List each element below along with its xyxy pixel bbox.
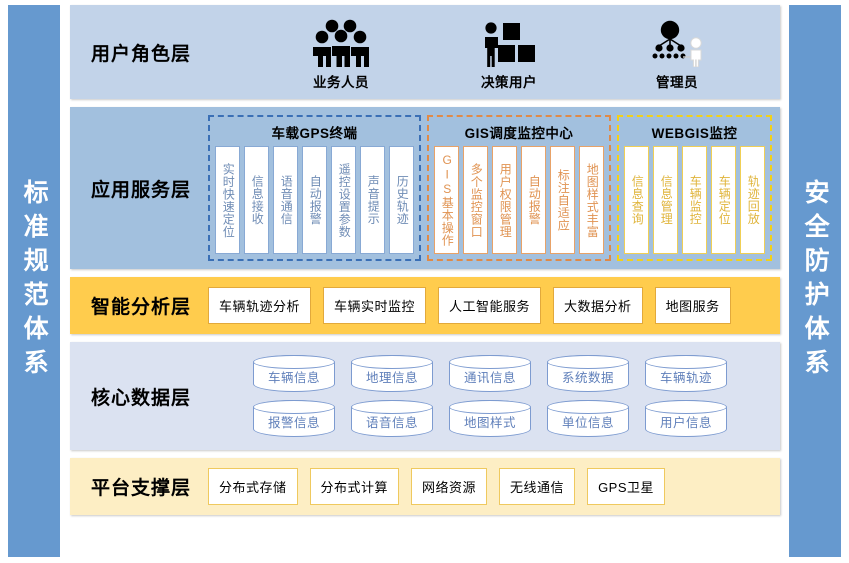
group-items: 实时快速定位 信息接收 语音通信 自动报警 遥控设置参数 声音提示 历史轨迹 — [215, 146, 414, 254]
left-pillar-standards: 标准规范体系 — [8, 5, 60, 557]
layer-platform-support-title: 平台支撑层 — [70, 473, 208, 500]
role-business-staff[interactable]: 业务人员 — [266, 5, 416, 99]
database-cylinder[interactable]: 语音信息 — [351, 400, 433, 437]
right-pillar-security: 安全防护体系 — [789, 5, 841, 557]
layer-platform-support: 平台支撑层 分布式存储 分布式计算 网络资源 无线通信 GPS卫星 — [70, 458, 780, 515]
database-cylinder[interactable]: 车辆信息 — [253, 355, 335, 392]
user-role-list: 业务人员 决策用户 — [208, 5, 780, 99]
analysis-item[interactable]: 地图服务 — [655, 287, 731, 324]
app-item[interactable]: 用户权限管理 — [492, 146, 517, 254]
database-cylinder[interactable]: 报警信息 — [253, 400, 335, 437]
core-data-grid: 车辆信息 地理信息 通讯信息 系统数据 车辆轨迹 报警信息 语音信息 地图样式 … — [208, 346, 780, 446]
core-data-row: 车辆信息 地理信息 通讯信息 系统数据 车辆轨迹 — [253, 355, 727, 392]
app-item[interactable]: 自动报警 — [521, 146, 546, 254]
layer-intelligent-analysis: 智能分析层 车辆轨迹分析 车辆实时监控 人工智能服务 大数据分析 地图服务 — [70, 277, 780, 334]
app-item[interactable]: 轨迹回放 — [740, 146, 765, 254]
architecture-diagram: 标准规范体系 用户角色层 — [0, 0, 849, 563]
database-label: 地理信息 — [366, 367, 418, 386]
database-cylinder[interactable]: 系统数据 — [547, 355, 629, 392]
left-pillar-label: 标准规范体系 — [21, 179, 47, 383]
database-cylinder[interactable]: 地理信息 — [351, 355, 433, 392]
users-group-icon — [310, 17, 372, 67]
database-label: 报警信息 — [268, 412, 320, 431]
app-item[interactable]: 多个监控窗口 — [463, 146, 488, 254]
database-cylinder[interactable]: 通讯信息 — [449, 355, 531, 392]
database-label: 通讯信息 — [464, 367, 516, 386]
group-items: GIS基本操作 多个监控窗口 用户权限管理 自动报警 标注自适应 地图样式丰富 — [434, 146, 604, 254]
app-item[interactable]: 语音通信 — [273, 146, 298, 254]
analysis-item[interactable]: 大数据分析 — [553, 287, 643, 324]
group-webgis-monitoring: WEBGIS监控 信息查询 信息管理 车辆监控 车辆定位 轨迹回放 — [617, 115, 772, 261]
layer-intelligent-analysis-title: 智能分析层 — [70, 292, 208, 319]
layer-core-data-title: 核心数据层 — [70, 383, 208, 410]
layer-user-role-title: 用户角色层 — [70, 39, 208, 66]
role-decision-user[interactable]: 决策用户 — [434, 5, 584, 99]
app-item[interactable]: 车辆定位 — [711, 146, 736, 254]
database-label: 单位信息 — [562, 412, 614, 431]
platform-item[interactable]: 分布式计算 — [310, 468, 400, 505]
database-cylinder[interactable]: 地图样式 — [449, 400, 531, 437]
org-chart-person-icon — [648, 17, 706, 67]
analysis-item[interactable]: 车辆轨迹分析 — [208, 287, 311, 324]
database-label: 车辆信息 — [268, 367, 320, 386]
app-item[interactable]: 实时快速定位 — [215, 146, 240, 254]
app-item[interactable]: 信息接收 — [244, 146, 269, 254]
database-cylinder[interactable]: 用户信息 — [645, 400, 727, 437]
app-item[interactable]: 信息查询 — [624, 146, 649, 254]
role-label: 业务人员 — [313, 71, 369, 91]
database-label: 地图样式 — [464, 412, 516, 431]
group-items: 信息查询 信息管理 车辆监控 车辆定位 轨迹回放 — [624, 146, 765, 254]
platform-item[interactable]: 网络资源 — [411, 468, 487, 505]
app-item[interactable]: GIS基本操作 — [434, 146, 459, 254]
core-data-row: 报警信息 语音信息 地图样式 单位信息 用户信息 — [253, 400, 727, 437]
layer-application-service-title: 应用服务层 — [70, 107, 208, 269]
platform-item[interactable]: GPS卫星 — [587, 468, 665, 505]
app-item[interactable]: 遥控设置参数 — [331, 146, 356, 254]
group-title: WEBGIS监控 — [624, 120, 765, 146]
platform-item[interactable]: 分布式存储 — [208, 468, 298, 505]
database-label: 语音信息 — [366, 412, 418, 431]
application-group-list: 车载GPS终端 实时快速定位 信息接收 语音通信 自动报警 遥控设置参数 声音提… — [208, 107, 780, 269]
role-administrator[interactable]: 管理员 — [602, 5, 752, 99]
database-label: 用户信息 — [660, 412, 712, 431]
analysis-item[interactable]: 人工智能服务 — [438, 287, 541, 324]
group-title: 车载GPS终端 — [215, 120, 414, 146]
app-item[interactable]: 声音提示 — [360, 146, 385, 254]
group-vehicle-gps-terminal: 车载GPS终端 实时快速定位 信息接收 语音通信 自动报警 遥控设置参数 声音提… — [208, 115, 421, 261]
role-label: 决策用户 — [481, 71, 537, 91]
analysis-item[interactable]: 车辆实时监控 — [323, 287, 426, 324]
layer-core-data: 核心数据层 车辆信息 地理信息 通讯信息 系统数据 车辆轨迹 报警信息 语音信息… — [70, 342, 780, 450]
database-cylinder[interactable]: 车辆轨迹 — [645, 355, 727, 392]
database-label: 系统数据 — [562, 367, 614, 386]
layer-stack: 用户角色层 — [60, 0, 789, 563]
database-cylinder[interactable]: 单位信息 — [547, 400, 629, 437]
app-item[interactable]: 标注自适应 — [550, 146, 575, 254]
intelligent-analysis-list: 车辆轨迹分析 车辆实时监控 人工智能服务 大数据分析 地图服务 — [208, 287, 780, 324]
layer-user-role: 用户角色层 — [70, 5, 780, 99]
layer-application-service: 应用服务层 车载GPS终端 实时快速定位 信息接收 语音通信 自动报警 遥控设置… — [70, 107, 780, 269]
role-label: 管理员 — [656, 71, 698, 91]
person-presenting-blocks-icon — [481, 17, 537, 67]
group-title: GIS调度监控中心 — [434, 120, 604, 146]
platform-item[interactable]: 无线通信 — [499, 468, 575, 505]
app-item[interactable]: 历史轨迹 — [389, 146, 414, 254]
app-item[interactable]: 地图样式丰富 — [579, 146, 604, 254]
right-pillar-label: 安全防护体系 — [802, 179, 828, 383]
app-item[interactable]: 车辆监控 — [682, 146, 707, 254]
app-item[interactable]: 自动报警 — [302, 146, 327, 254]
app-item[interactable]: 信息管理 — [653, 146, 678, 254]
platform-support-list: 分布式存储 分布式计算 网络资源 无线通信 GPS卫星 — [208, 468, 780, 505]
group-gis-dispatch-center: GIS调度监控中心 GIS基本操作 多个监控窗口 用户权限管理 自动报警 标注自… — [427, 115, 611, 261]
database-label: 车辆轨迹 — [660, 367, 712, 386]
